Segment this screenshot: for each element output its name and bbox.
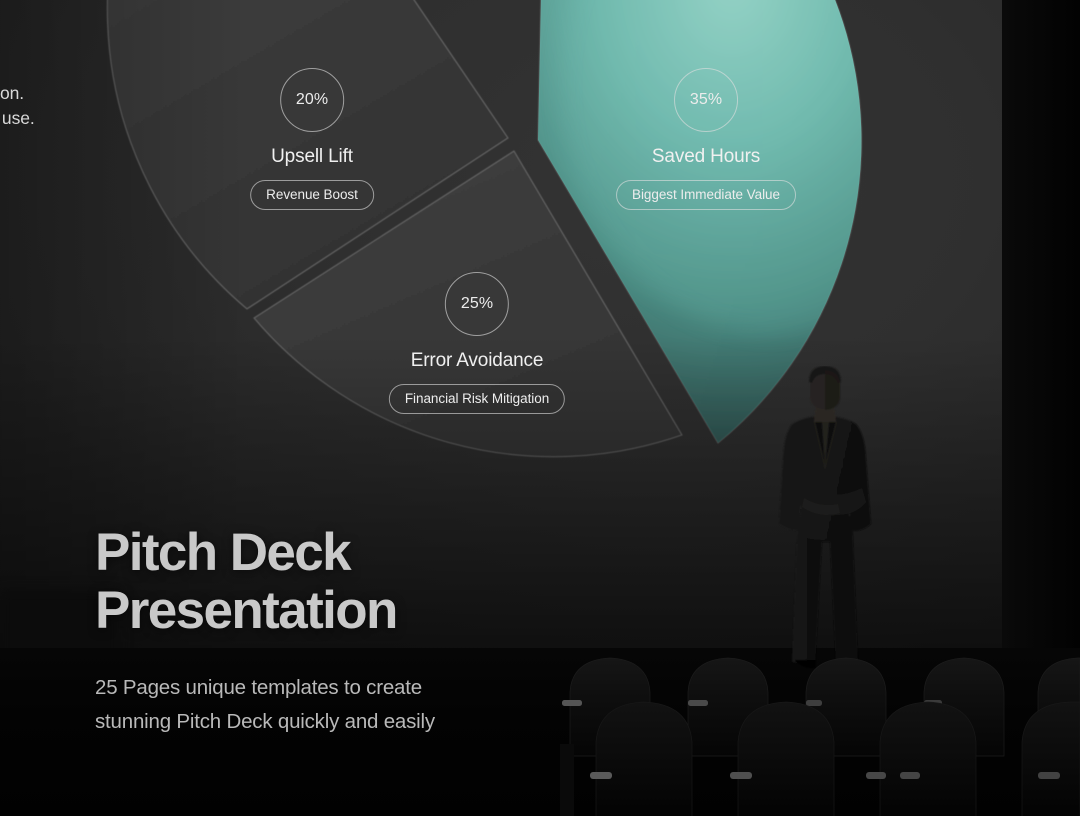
presentation-scene: milestones: atisfaction. le in expansion…	[0, 0, 1080, 816]
bullet-line: milestones:	[0, 32, 154, 57]
bullet-line: sponsible AI use.	[0, 106, 154, 131]
pie-label-error-avoidance[interactable]: 25% Error Avoidance Financial Risk Mitig…	[389, 272, 565, 414]
slide-bullet-list: milestones: atisfaction. le in expansion…	[0, 32, 154, 130]
audience-seats	[560, 648, 1080, 816]
room-wall-right	[1002, 0, 1080, 700]
bullet-line: le in expansion.	[0, 81, 154, 106]
bullet-line: atisfaction.	[0, 57, 154, 82]
subtitle-line: stunning Pitch Deck quickly and easily	[95, 705, 435, 739]
pie-percent-badge: 35%	[674, 68, 738, 132]
pie-percent-badge: 25%	[445, 272, 509, 336]
pie-slice-chip[interactable]: Biggest Immediate Value	[616, 180, 796, 210]
page-subtitle: 25 Pages unique templates to create stun…	[95, 671, 435, 739]
pie-percent-badge: 20%	[280, 68, 344, 132]
page-title: Pitch Deck Presentation	[95, 524, 397, 640]
pie-slice-title: Saved Hours	[616, 146, 796, 168]
pie-slice-chip[interactable]: Revenue Boost	[250, 180, 374, 210]
pie-label-upsell-lift[interactable]: 20% Upsell Lift Revenue Boost	[250, 68, 374, 210]
title-line: Pitch Deck	[95, 524, 397, 582]
pie-label-saved-hours[interactable]: 35% Saved Hours Biggest Immediate Value	[616, 68, 796, 210]
title-line: Presentation	[95, 582, 397, 640]
pie-slice-title: Upsell Lift	[250, 146, 374, 168]
pie-slice-title: Error Avoidance	[389, 350, 565, 372]
subtitle-line: 25 Pages unique templates to create	[95, 671, 435, 705]
pie-slice-chip[interactable]: Financial Risk Mitigation	[389, 384, 565, 414]
